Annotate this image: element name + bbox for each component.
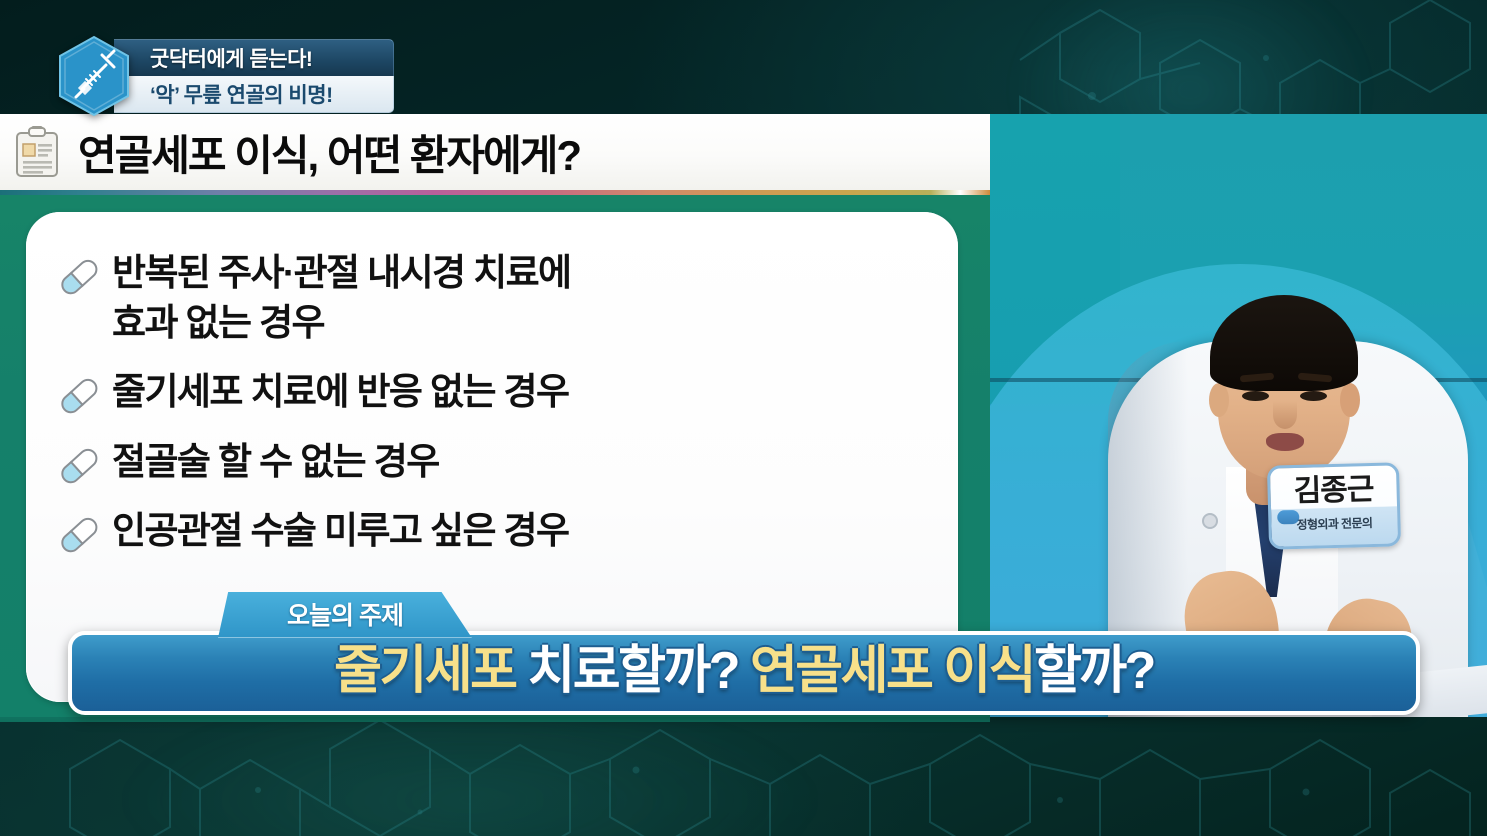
- guest-name-tag: 김종근 정형외과 전문의: [1267, 462, 1401, 549]
- banner-segment-4: 할까?: [1034, 642, 1154, 700]
- doctor-nose: [1273, 401, 1297, 429]
- program-title-line2-row: ‘악’ 무릎 연골의 비명!: [114, 76, 394, 113]
- list-item: 인공관절 수술 미루고 싶은 경우: [60, 504, 930, 556]
- pill-capsule-icon: [60, 252, 104, 296]
- doctor-ear-left: [1209, 383, 1229, 417]
- guest-name: 김종근: [1293, 475, 1374, 507]
- clipboard-icon: [14, 126, 60, 178]
- list-item-label: 인공관절 수술 미루고 싶은 경우: [112, 504, 568, 556]
- pill-capsule-icon: [60, 371, 104, 415]
- list-item: 줄기세포 치료에 반응 없는 경우: [60, 365, 930, 417]
- topic-banner-text: 줄기세포 치료할까? 연골세포 이식할까?: [334, 645, 1154, 701]
- doctor-ear-right: [1340, 383, 1360, 417]
- banner-segment-3: 연골세포 이식: [750, 642, 1034, 700]
- program-title-line1: 굿닥터에게 듣는다!: [150, 43, 312, 73]
- topic-tag: 오늘의 주제: [218, 592, 472, 638]
- program-badge: 굿닥터에게 듣는다! ‘악’ 무릎 연골의 비명!: [56, 36, 394, 116]
- topic-banner: 줄기세포 치료할까? 연골세포 이식할까?: [68, 631, 1420, 715]
- video-panel: 김종근 정형외과 전문의: [990, 114, 1487, 717]
- list-item-label: 절골술 할 수 없는 경우: [112, 435, 439, 487]
- bullet-list-card: 반복된 주사·관절 내시경 치료에 효과 없는 경우 줄기세포 치료에 반응 없…: [26, 212, 958, 702]
- list-item: 반복된 주사·관절 내시경 치료에 효과 없는 경우: [60, 246, 930, 347]
- list-item: 절골술 할 수 없는 경우: [60, 435, 930, 487]
- program-title-line1-row: 굿닥터에게 듣는다!: [114, 39, 394, 76]
- doctor-eye-left: [1242, 391, 1269, 401]
- lapel-microphone-icon: [1204, 515, 1216, 527]
- program-title-line2: ‘악’ 무릎 연골의 비명!: [150, 79, 333, 109]
- broadcast-screen: 굿닥터에게 듣는다! ‘악’ 무릎 연골의 비명!: [0, 0, 1487, 836]
- syringe-icon: [56, 35, 132, 117]
- name-tag-logo-icon: [1277, 510, 1299, 525]
- doctor-eye-right: [1300, 391, 1327, 401]
- doctor-mouth: [1266, 433, 1304, 451]
- banner-segment-2: 치료할까?: [527, 642, 750, 700]
- header-title-bar: 연골세포 이식, 어떤 환자에게?: [0, 114, 990, 190]
- banner-segment-1: 줄기세포: [334, 642, 527, 700]
- page-title: 연골세포 이식, 어떤 환자에게?: [78, 122, 580, 183]
- list-item-label: 반복된 주사·관절 내시경 치료에 효과 없는 경우: [112, 246, 570, 347]
- program-title-block: 굿닥터에게 듣는다! ‘악’ 무릎 연골의 비명!: [114, 39, 394, 113]
- guest-role: 정형외과 전문의: [1296, 514, 1372, 533]
- rainbow-divider: [0, 190, 990, 195]
- pill-capsule-icon: [60, 510, 104, 554]
- topic-tag-label: 오늘의 주제: [218, 592, 472, 638]
- list-item-label: 줄기세포 치료에 반응 없는 경우: [112, 365, 568, 417]
- pill-capsule-icon: [60, 441, 104, 485]
